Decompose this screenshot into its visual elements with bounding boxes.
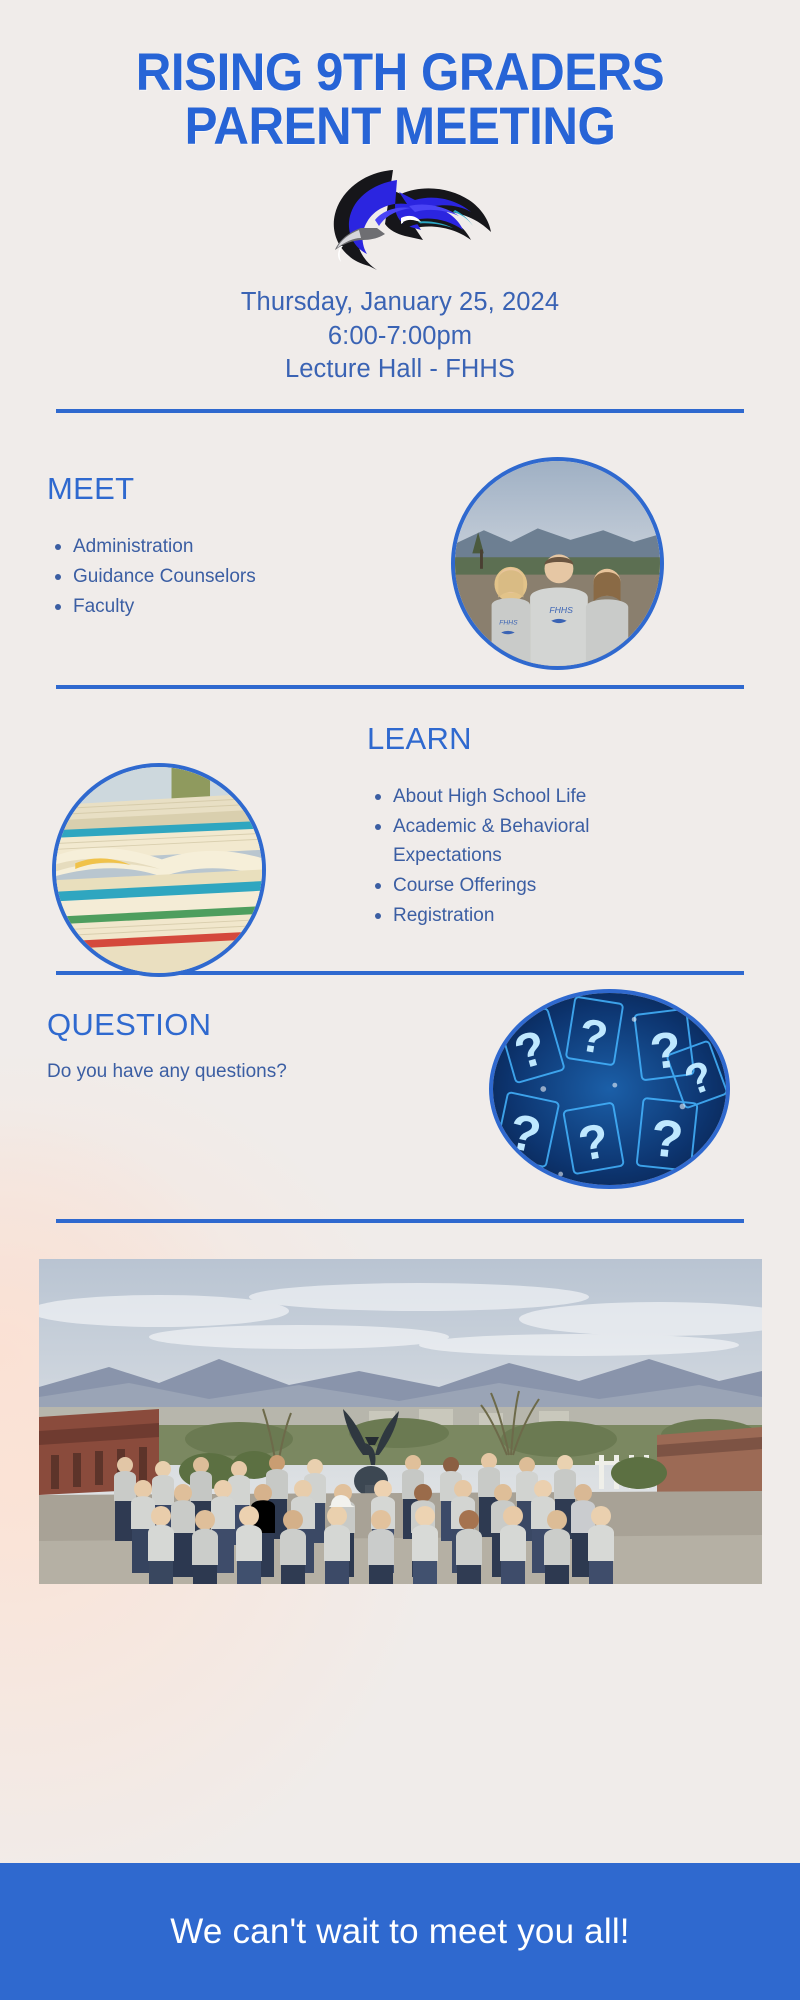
svg-text:FHHS: FHHS [549, 605, 573, 615]
list-item: Faculty [47, 593, 256, 622]
section-question-heading: QUESTION [47, 1007, 211, 1043]
faculty-group-photo [39, 1259, 762, 1584]
event-location: Lecture Hall - FHHS [0, 353, 800, 387]
list-item: About High School Life [367, 783, 672, 812]
list-item: Course Offerings [367, 872, 672, 901]
event-details: Thursday, January 25, 2024 6:00-7:00pm L… [0, 286, 800, 387]
question-marks-circle-photo: ? ? ? ? ? ? ? [489, 989, 730, 1189]
footer-message: We can't wait to meet you all! [170, 1912, 629, 1952]
section-question-body: Do you have any questions? [47, 1061, 287, 1083]
list-item: Guidance Counselors [47, 563, 256, 592]
list-item: Registration [367, 902, 672, 931]
divider-rule-4 [56, 1219, 744, 1223]
title-line-1: RISING 9TH GRADERS [28, 46, 772, 100]
section-meet-list: Administration Guidance Counselors Facul… [47, 533, 256, 623]
footer-banner: We can't wait to meet you all! [0, 1863, 800, 2000]
section-learn: LEARN About High School Life Academic & … [0, 701, 800, 971]
stacked-books-circle-photo [52, 763, 266, 977]
flyer-page: RISING 9TH GRADERS PARENT MEETING Thursd… [0, 0, 800, 2000]
list-item: Administration [47, 533, 256, 562]
event-time: 6:00-7:00pm [0, 320, 800, 354]
section-question: QUESTION Do you have any questions? [0, 989, 800, 1219]
section-learn-list: About High School Life Academic & Behavi… [367, 783, 672, 931]
falcon-mascot-logo [305, 166, 495, 274]
page-title: RISING 9TH GRADERS PARENT MEETING [0, 0, 800, 154]
title-line-2: PARENT MEETING [28, 100, 772, 154]
section-learn-heading: LEARN [367, 721, 472, 757]
divider-rule-1 [56, 409, 744, 413]
section-meet-heading: MEET [47, 471, 134, 507]
list-item: Academic & Behavioral Expectations [367, 813, 672, 871]
event-date: Thursday, January 25, 2024 [0, 286, 800, 320]
staff-group-circle-photo: FHHS FHHS [451, 457, 664, 670]
svg-text:?: ? [648, 1109, 686, 1170]
svg-text:FHHS: FHHS [499, 620, 518, 627]
divider-rule-2 [56, 685, 744, 689]
section-meet: MEET Administration Guidance Counselors … [0, 457, 800, 685]
